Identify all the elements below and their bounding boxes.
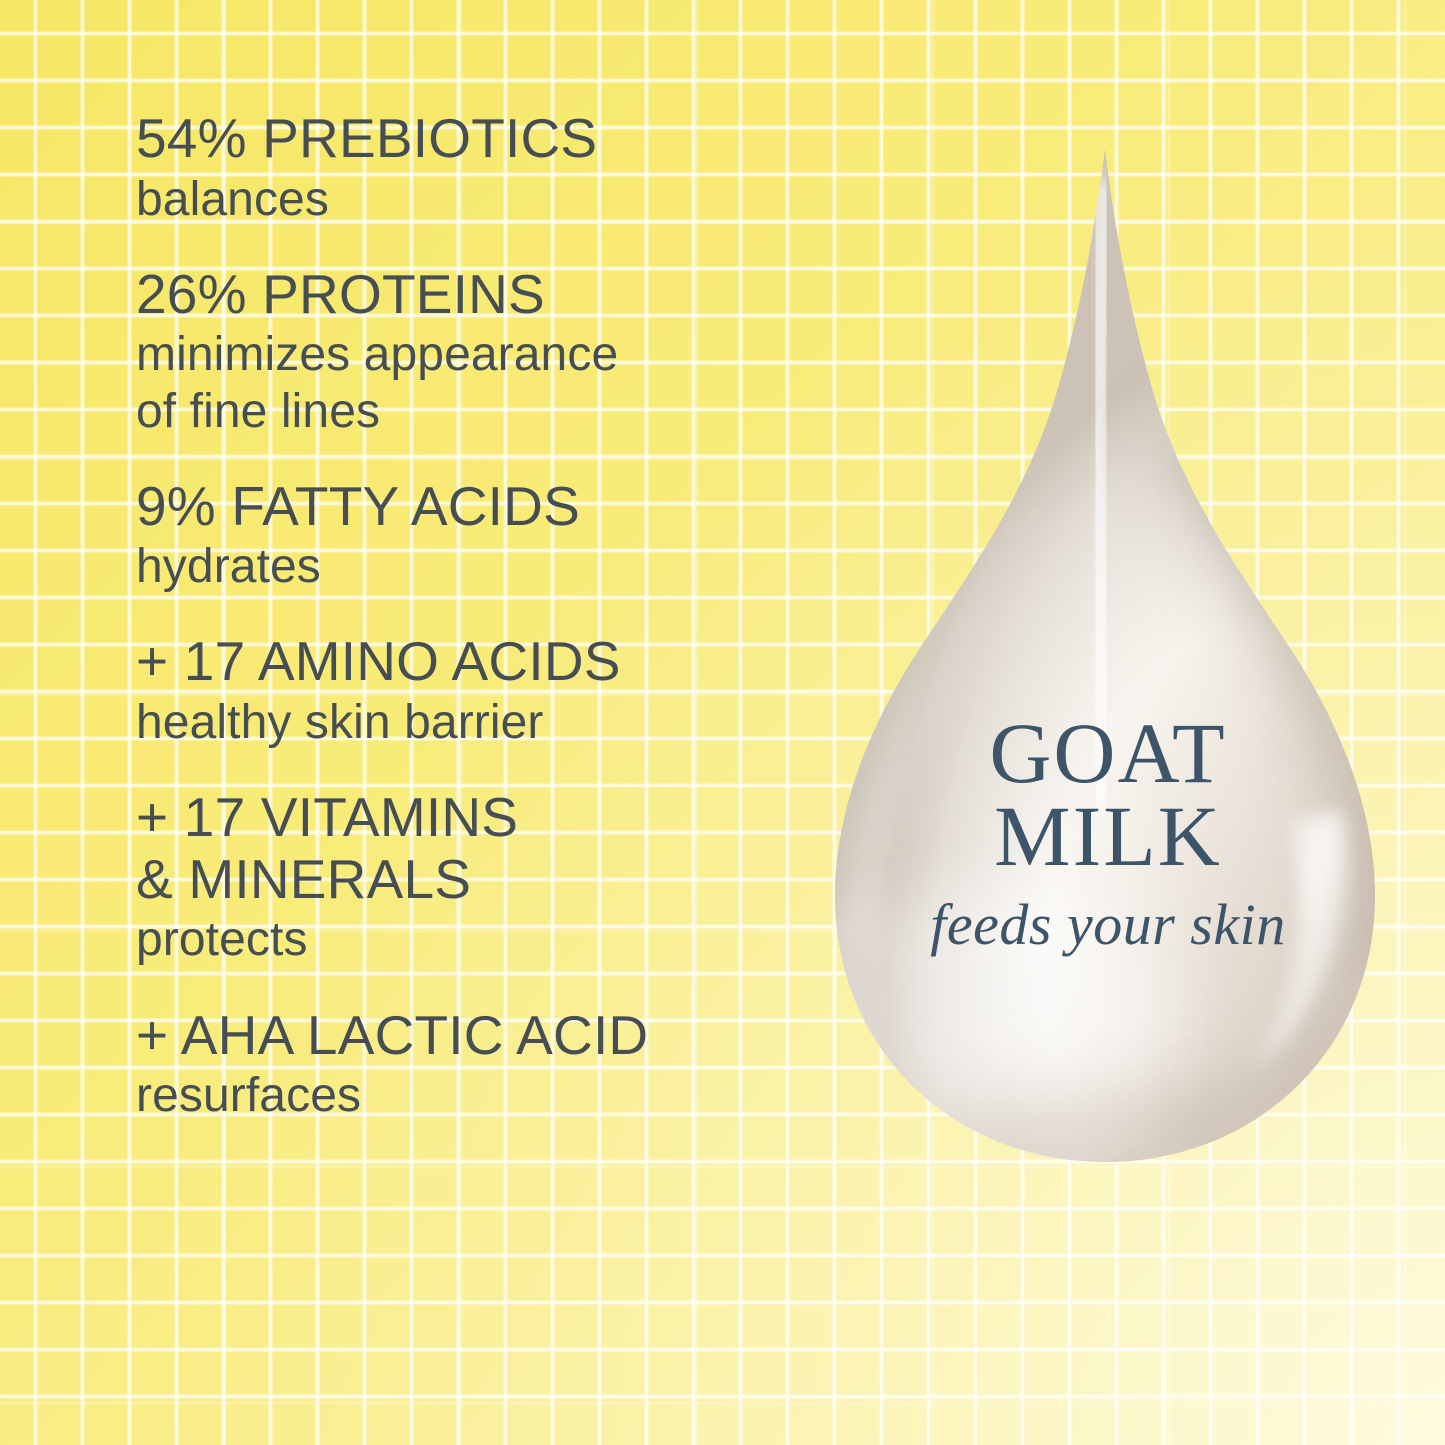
- ingredient-benefit: protects: [136, 912, 816, 968]
- droplet-shading: [800, 120, 1420, 1180]
- ingredient-benefit: resurfaces: [136, 1068, 816, 1124]
- ingredient-item-fatty-acids: 9% FATTY ACIDS hydrates: [136, 476, 816, 596]
- ingredient-list: 54% PREBIOTICS balances 26% PROTEINS min…: [136, 108, 816, 1124]
- ingredient-title: 54% PREBIOTICS: [136, 108, 816, 170]
- ingredient-benefit: minimizes appearance of fine lines: [136, 327, 816, 439]
- ingredient-item-prebiotics: 54% PREBIOTICS balances: [136, 108, 816, 228]
- ingredient-item-aha-lactic-acid: + AHA LACTIC ACID resurfaces: [136, 1005, 816, 1125]
- ingredient-item-amino-acids: + 17 AMINO ACIDS healthy skin barrier: [136, 631, 816, 751]
- ingredient-benefit: hydrates: [136, 539, 816, 595]
- ingredient-item-vitamins-minerals: + 17 VITAMINS & MINERALS protects: [136, 787, 816, 968]
- ingredient-title: + 17 AMINO ACIDS: [136, 631, 816, 693]
- ingredient-title: + 17 VITAMINS & MINERALS: [136, 787, 816, 910]
- ingredient-item-proteins: 26% PROTEINS minimizes appearance of fin…: [136, 264, 816, 440]
- ingredient-title: 26% PROTEINS: [136, 264, 816, 326]
- ingredient-title: 9% FATTY ACIDS: [136, 476, 816, 538]
- ingredient-benefit: balances: [136, 172, 816, 228]
- milk-droplet-icon: [800, 120, 1420, 1180]
- product-ingredient-infographic: 54% PREBIOTICS balances 26% PROTEINS min…: [0, 0, 1445, 1445]
- ingredient-title: + AHA LACTIC ACID: [136, 1005, 816, 1067]
- ingredient-benefit: healthy skin barrier: [136, 695, 816, 751]
